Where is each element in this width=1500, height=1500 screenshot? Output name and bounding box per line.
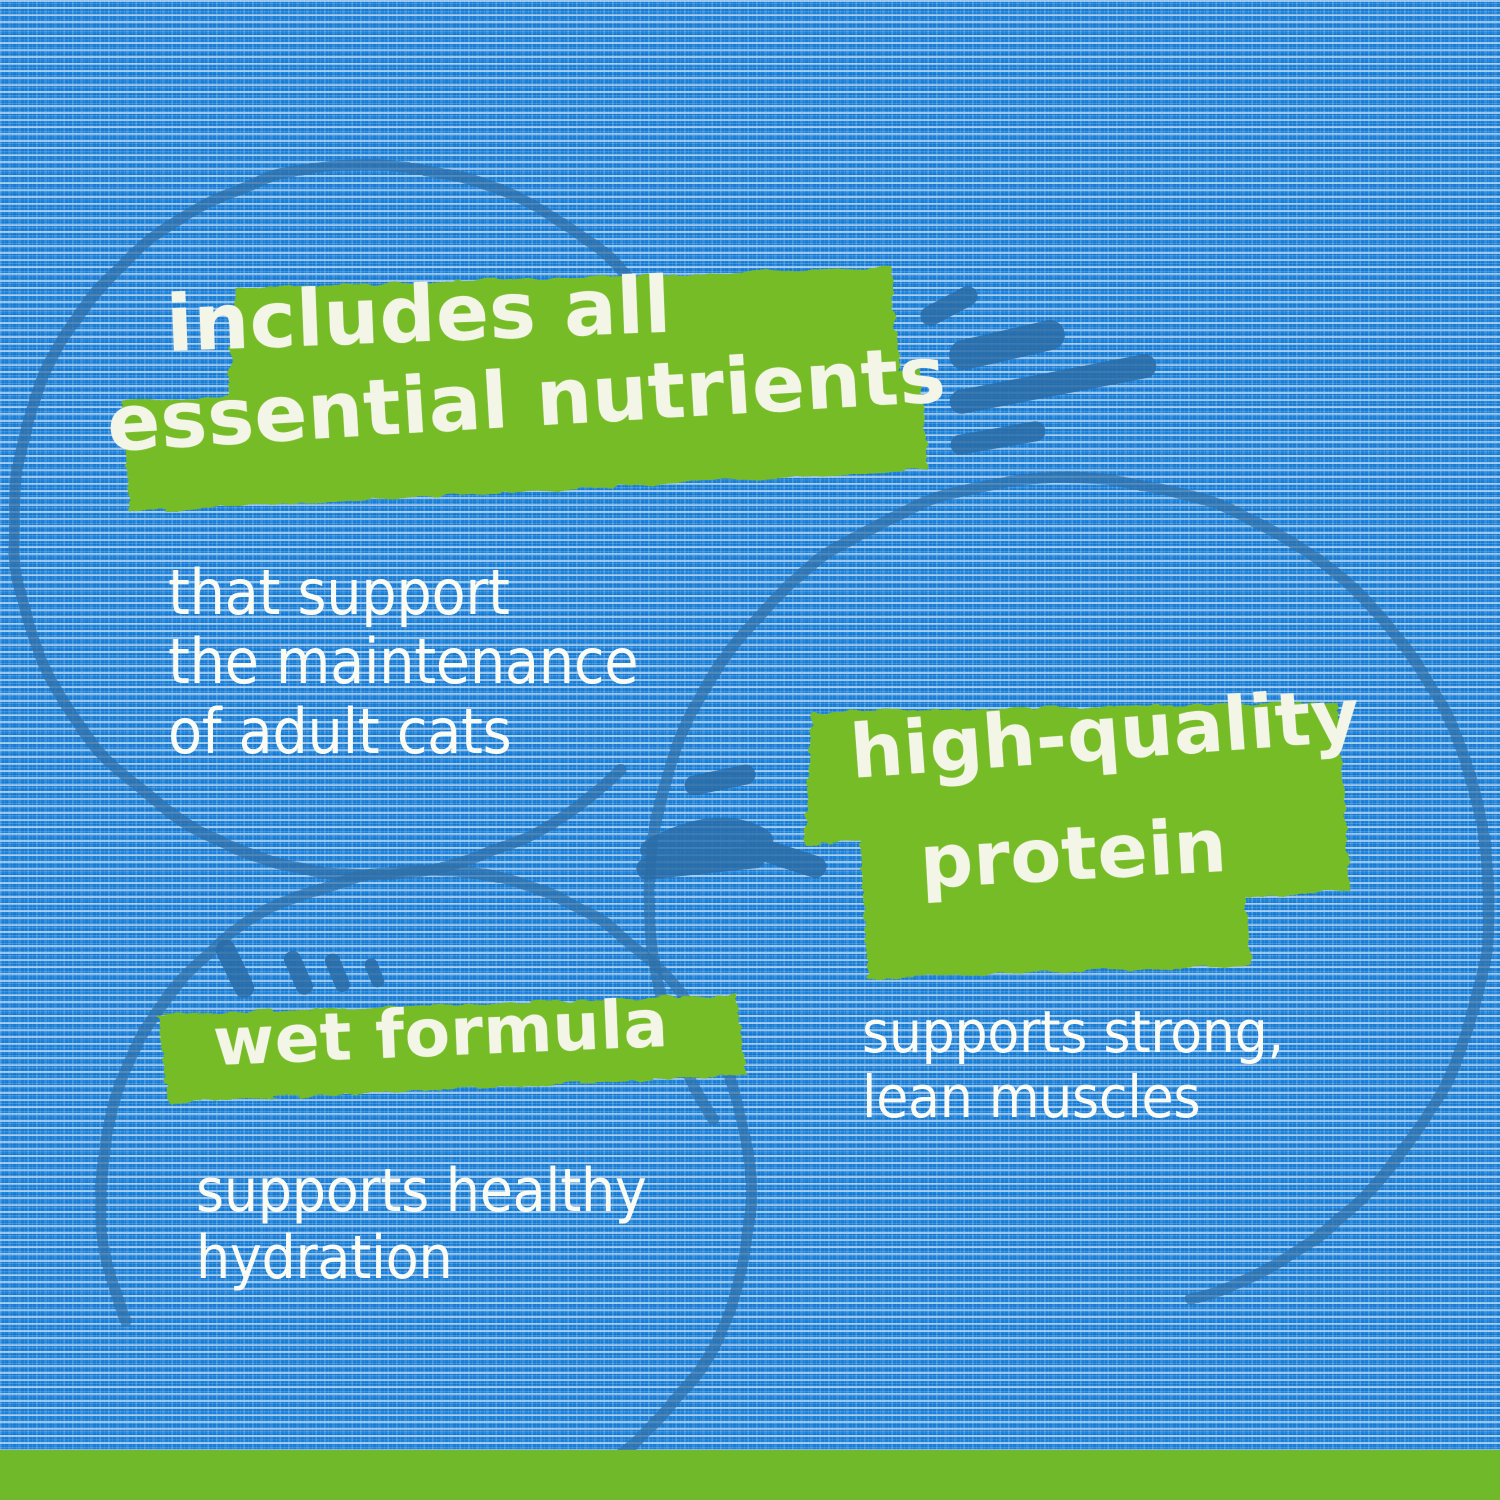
description-essential-nutrients: that support the maintenance of adult ca… bbox=[168, 558, 638, 766]
badge-high-quality-protein-line2: protein bbox=[918, 811, 1229, 898]
badge-essential-nutrients-line1: includes all bbox=[165, 269, 673, 362]
description-high-quality-protein: supports strong, lean muscles bbox=[862, 1000, 1284, 1130]
description-wet-formula: supports healthy hydration bbox=[196, 1158, 647, 1292]
promo-feature-panel: includes all essential nutrients that su… bbox=[0, 0, 1500, 1500]
bottom-green-band bbox=[0, 1450, 1500, 1500]
badge-wet-formula-line1: wet formula bbox=[212, 993, 670, 1075]
